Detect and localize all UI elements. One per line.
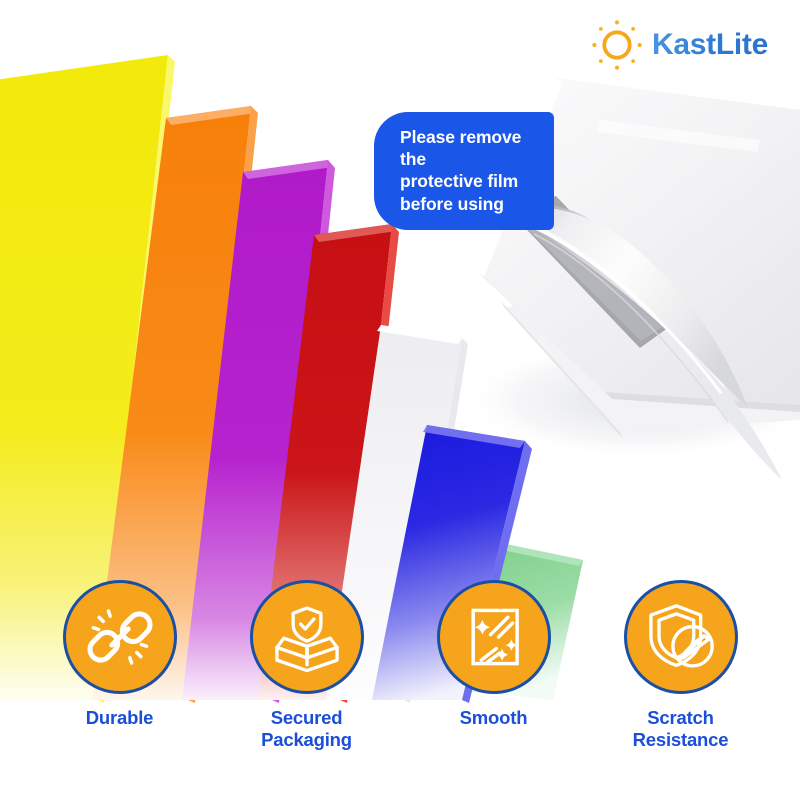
brand-logo: KastLite (588, 14, 783, 76)
feature-durable[interactable]: Durable (45, 580, 195, 729)
chain-link-icon (83, 600, 157, 674)
feature-secured-packaging[interactable]: Secured Packaging (232, 580, 382, 750)
polished-panel-icon (457, 600, 531, 674)
shield-blade-icon (644, 600, 718, 674)
feature-badges: Durable Secured Packaging (0, 580, 800, 770)
feature-scratch-resistance[interactable]: Scratch Resistance (606, 580, 756, 750)
feature-icon-circle (437, 580, 551, 694)
feature-label: Durable (86, 707, 153, 729)
protective-film-callout: Please remove the protective film before… (374, 112, 554, 230)
feature-icon-circle (624, 580, 738, 694)
feature-smooth[interactable]: Smooth (419, 580, 569, 729)
feature-label: Scratch Resistance (633, 707, 729, 750)
feature-label: Secured Packaging (261, 707, 352, 750)
feature-icon-circle (63, 580, 177, 694)
feature-icon-circle (250, 580, 364, 694)
shield-box-icon (270, 600, 344, 674)
callout-text: Please remove the protective film before… (400, 126, 538, 215)
brand-wordmark: KastLite (652, 30, 768, 60)
feature-label: Smooth (460, 707, 528, 729)
sun-icon (588, 16, 646, 74)
product-image: KastLite Please remove the protective fi… (0, 0, 800, 800)
